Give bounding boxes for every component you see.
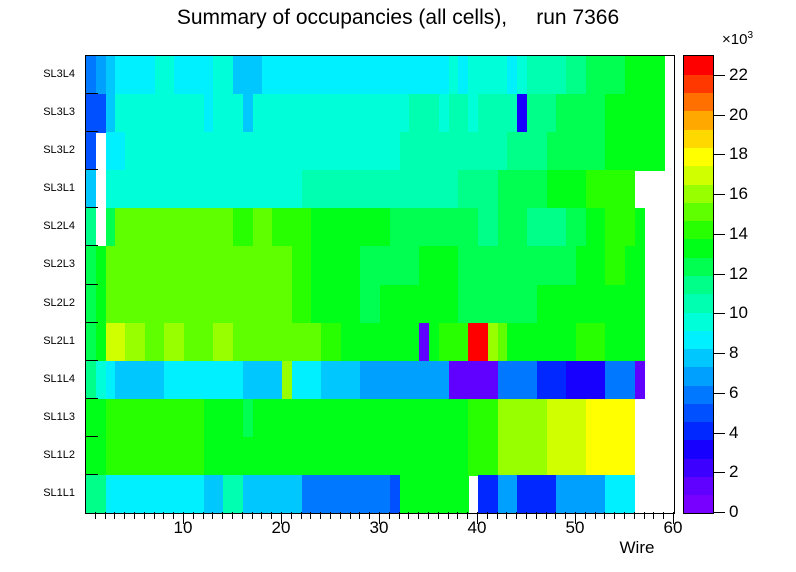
y-axis-label-sl1l1: SL1L1 xyxy=(43,487,75,499)
x-axis-tick xyxy=(457,512,458,519)
y-axis-tick xyxy=(85,284,98,285)
x-axis-label-40: 40 xyxy=(468,518,487,538)
palette-band xyxy=(684,330,713,349)
x-axis-tick xyxy=(291,512,292,519)
y-axis-label-sl1l4: SL1L4 xyxy=(43,373,75,385)
heatmap-cell xyxy=(635,323,645,362)
y-axis-label-sl2l1: SL2L1 xyxy=(43,335,75,347)
x-axis-tick xyxy=(232,512,233,519)
x-axis-tick xyxy=(114,512,115,519)
y-axis-tick xyxy=(85,322,98,323)
y-axis-tick xyxy=(85,93,98,94)
heatmap-cell xyxy=(654,94,664,133)
heatmap-cell xyxy=(86,132,96,171)
palette-band xyxy=(684,403,713,422)
occupancy-heatmap[interactable] xyxy=(86,56,674,513)
y-axis-tick xyxy=(85,131,98,132)
heatmap-cell xyxy=(86,208,96,247)
palette-band xyxy=(684,93,713,112)
z-axis-tick xyxy=(714,433,725,434)
palette-band xyxy=(684,184,713,203)
y-axis-tick xyxy=(85,436,98,437)
x-axis-tick xyxy=(546,512,547,519)
palette-band xyxy=(684,275,713,294)
x-axis-tick xyxy=(203,512,204,519)
z-axis-label-6: 6 xyxy=(729,383,738,403)
x-axis-tick xyxy=(448,512,449,519)
x-axis-tick xyxy=(359,512,360,519)
x-axis-tick xyxy=(487,512,488,519)
y-axis-tick xyxy=(85,245,98,246)
x-axis-tick xyxy=(624,512,625,519)
z-axis-label-16: 16 xyxy=(729,184,748,204)
x-axis-tick xyxy=(408,512,409,519)
x-axis-tick xyxy=(350,512,351,519)
x-axis-tick xyxy=(144,512,145,519)
x-axis-tick xyxy=(555,512,556,519)
z-axis-label-22: 22 xyxy=(729,65,748,85)
x-axis-tick xyxy=(634,512,635,519)
y-axis-label-sl3l1: SL3L1 xyxy=(43,182,75,194)
x-axis-tick xyxy=(526,512,527,519)
y-axis-tick xyxy=(85,474,98,475)
z-axis-tick xyxy=(714,234,725,235)
color-scale-bar xyxy=(683,55,714,514)
palette-band xyxy=(684,221,713,240)
z-axis-label-20: 20 xyxy=(729,105,748,125)
z-exponent-base: ×10 xyxy=(722,31,747,48)
z-axis-tick xyxy=(714,115,725,116)
heatmap-cell xyxy=(654,132,664,171)
palette-band xyxy=(684,348,713,367)
palette-band xyxy=(684,147,713,166)
x-axis-label-50: 50 xyxy=(566,518,585,538)
z-axis-tick xyxy=(714,512,725,513)
y-axis-label-sl1l2: SL1L2 xyxy=(43,449,75,461)
z-axis-label-0: 0 xyxy=(729,502,738,522)
y-axis-tick xyxy=(85,169,98,170)
x-axis-tick xyxy=(320,512,321,519)
x-axis-tick xyxy=(340,512,341,519)
heatmap-cell xyxy=(635,208,645,247)
heatmap-cell xyxy=(86,170,96,209)
x-axis-tick xyxy=(212,512,213,519)
x-axis-tick xyxy=(222,512,223,519)
palette-band xyxy=(684,166,713,185)
z-axis-label-18: 18 xyxy=(729,144,748,164)
z-axis-label-14: 14 xyxy=(729,224,748,244)
z-axis-tick xyxy=(714,154,725,155)
root-canvas: Summary of occupancies (all cells), run … xyxy=(0,0,796,572)
x-axis-tick xyxy=(644,512,645,519)
y-axis-label-sl3l3: SL3L3 xyxy=(43,106,75,118)
z-exponent-power: 3 xyxy=(747,30,753,41)
z-axis-label-4: 4 xyxy=(729,423,738,443)
x-axis-tick xyxy=(418,512,419,519)
x-axis-tick xyxy=(428,512,429,519)
page-title: Summary of occupancies (all cells), run … xyxy=(0,6,796,30)
y-axis-tick xyxy=(85,398,98,399)
heatmap-cell xyxy=(458,475,468,513)
x-axis-tick xyxy=(124,512,125,519)
heatmap-cell xyxy=(635,246,645,285)
palette-band xyxy=(684,367,713,386)
x-axis-tick xyxy=(653,512,654,519)
palette-band xyxy=(684,74,713,93)
palette-band xyxy=(684,385,713,404)
x-axis-tick xyxy=(95,512,96,519)
heatmap-cell xyxy=(625,475,635,513)
x-axis-tick xyxy=(193,512,194,519)
palette-band xyxy=(684,495,713,514)
x-axis-tick xyxy=(242,512,243,519)
palette-band xyxy=(684,312,713,331)
x-axis-tick xyxy=(497,512,498,519)
z-axis-tick xyxy=(714,194,725,195)
palette-band xyxy=(684,422,713,441)
heatmap-cell xyxy=(625,437,635,476)
x-axis-tick xyxy=(585,512,586,519)
x-axis-tick xyxy=(105,512,106,519)
x-axis-tick xyxy=(301,512,302,519)
palette-band xyxy=(684,239,713,258)
palette-band xyxy=(684,440,713,459)
palette-band xyxy=(684,129,713,148)
heatmap-cell xyxy=(654,56,664,95)
y-axis-label-sl1l3: SL1L3 xyxy=(43,411,75,423)
x-axis-tick xyxy=(614,512,615,519)
z-axis-exponent: ×103 xyxy=(722,30,753,48)
z-axis-label-2: 2 xyxy=(729,462,738,482)
y-axis-label-sl3l2: SL3L2 xyxy=(43,144,75,156)
heatmap-cell xyxy=(625,170,635,209)
x-axis-title: Wire xyxy=(592,538,682,558)
x-axis-tick xyxy=(310,512,311,519)
z-axis-tick xyxy=(714,313,725,314)
x-axis-tick xyxy=(438,512,439,519)
x-axis-tick xyxy=(595,512,596,519)
x-axis-tick xyxy=(536,512,537,519)
z-axis-tick xyxy=(714,274,725,275)
z-axis-label-12: 12 xyxy=(729,264,748,284)
plot-frame xyxy=(85,55,675,514)
palette-band xyxy=(684,458,713,477)
x-axis-tick xyxy=(163,512,164,519)
y-axis-label-sl3l4: SL3L4 xyxy=(43,68,75,80)
x-axis-tick xyxy=(252,512,253,519)
y-axis-label-sl2l2: SL2L2 xyxy=(43,297,75,309)
heatmap-cell xyxy=(625,399,635,438)
heatmap-cell xyxy=(635,361,645,400)
heatmap-cell xyxy=(635,285,645,324)
x-axis-tick xyxy=(399,512,400,519)
z-axis-label-10: 10 xyxy=(729,303,748,323)
palette-band xyxy=(684,476,713,495)
x-axis-tick xyxy=(389,512,390,519)
x-axis-tick xyxy=(261,512,262,519)
palette-band xyxy=(684,257,713,276)
x-axis-tick xyxy=(330,512,331,519)
x-axis-tick xyxy=(516,512,517,519)
palette-band xyxy=(684,56,713,75)
y-axis-label-sl2l4: SL2L4 xyxy=(43,220,75,232)
palette-band xyxy=(684,202,713,221)
z-axis-tick xyxy=(714,472,725,473)
x-axis-tick xyxy=(506,512,507,519)
y-axis: SL3L4SL3L3SL3L2SL3L1SL2L4SL2L3SL2L2SL2L1… xyxy=(0,55,81,512)
z-axis-tick xyxy=(714,393,725,394)
x-axis-tick xyxy=(134,512,135,519)
x-axis-tick xyxy=(604,512,605,519)
x-axis-label-30: 30 xyxy=(370,518,389,538)
y-axis-tick xyxy=(85,360,98,361)
x-axis-label-60: 60 xyxy=(664,518,683,538)
x-axis-tick xyxy=(154,512,155,519)
y-axis-label-sl2l3: SL2L3 xyxy=(43,258,75,270)
z-axis-tick xyxy=(714,75,725,76)
x-axis-label-10: 10 xyxy=(174,518,193,538)
z-axis-label-8: 8 xyxy=(729,343,738,363)
y-axis-tick xyxy=(85,207,98,208)
palette-band xyxy=(684,111,713,130)
z-axis-tick xyxy=(714,353,725,354)
palette-band xyxy=(684,294,713,313)
x-axis-label-20: 20 xyxy=(272,518,291,538)
